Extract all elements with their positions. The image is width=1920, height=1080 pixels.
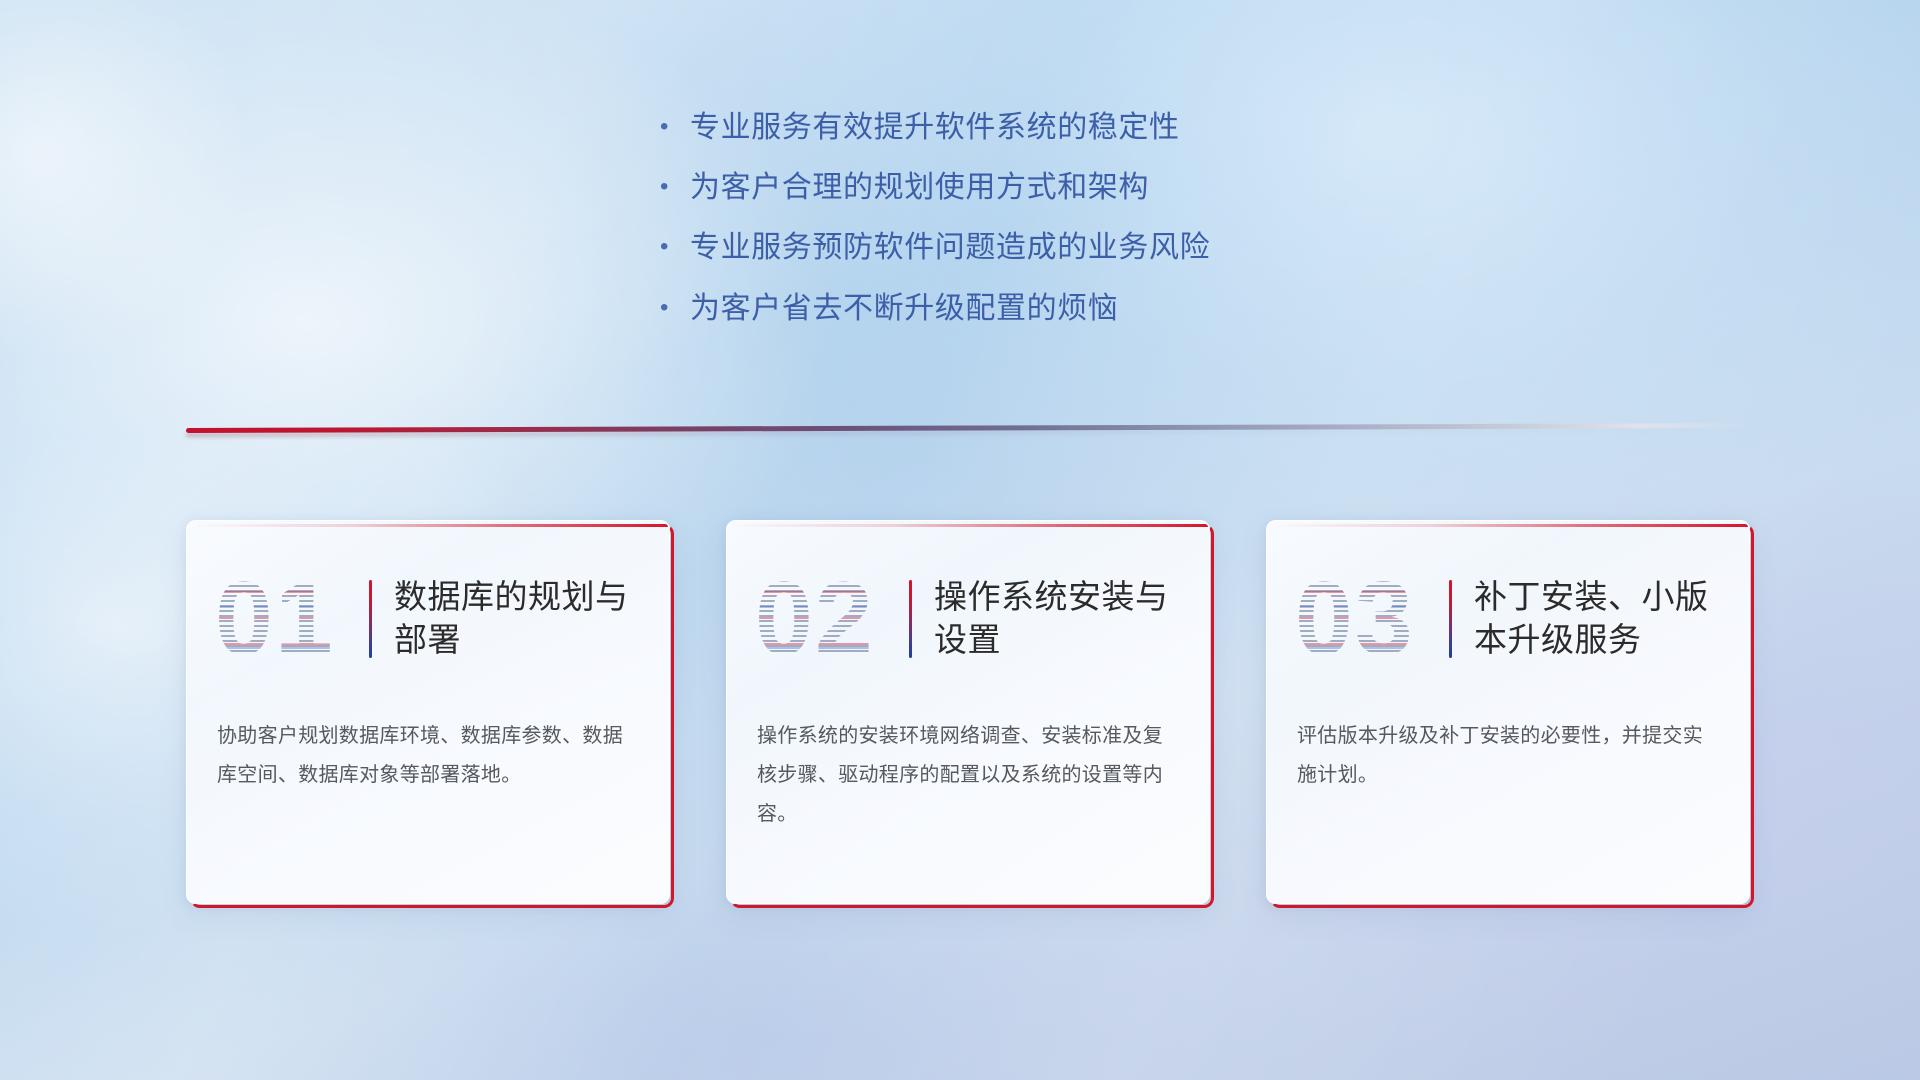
bullet-point-icon: • — [660, 296, 690, 320]
service-card[interactable]: 02 02 02 操作系统安装与设置 操作系统的安装环境网络调查、安装标准及复核… — [726, 520, 1210, 904]
card-number: 01 — [215, 565, 363, 673]
bullet-item-label: 专业服务有效提升软件系统的稳定性 — [690, 108, 1180, 148]
card-number-group: 01 01 01 — [215, 565, 363, 673]
card-title-divider-bar — [1449, 580, 1452, 658]
card-surface: 03 03 03 补丁安装、小版本升级服务 评估版本升级及补丁安装的必要性，并提… — [1266, 520, 1750, 904]
card-description: 协助客户规划数据库环境、数据库参数、数据库空间、数据库对象等部署落地。 — [217, 717, 633, 795]
card-title: 操作系统安装与设置 — [934, 576, 1209, 662]
service-card-row: 01 01 01 数据库的规划与部署 协助客户规划数据库环境、数据库参数、数据库… — [186, 520, 1752, 904]
card-title: 数据库的规划与部署 — [394, 576, 669, 662]
bullet-point-icon: • — [660, 175, 690, 199]
card-header: 03 03 03 补丁安装、小版本升级服务 — [1267, 555, 1749, 683]
bullet-item: • 为客户合理的规划使用方式和架构 — [660, 168, 1420, 208]
card-surface: 01 01 01 数据库的规划与部署 协助客户规划数据库环境、数据库参数、数据库… — [186, 520, 670, 904]
card-header: 02 02 02 操作系统安装与设置 — [727, 555, 1209, 683]
bullet-point-icon: • — [660, 115, 690, 139]
card-description: 评估版本升级及补丁安装的必要性，并提交实施计划。 — [1297, 717, 1713, 795]
bullet-item: • 专业服务预防软件问题造成的业务风险 — [660, 228, 1420, 268]
card-description: 操作系统的安装环境网络调查、安装标准及复核步骤、驱动程序的配置以及系统的设置等内… — [757, 717, 1173, 834]
card-header: 01 01 01 数据库的规划与部署 — [187, 555, 669, 683]
card-number-group: 03 03 03 — [1295, 565, 1443, 673]
card-title-divider-bar — [909, 580, 912, 658]
card-surface: 02 02 02 操作系统安装与设置 操作系统的安装环境网络调查、安装标准及复核… — [726, 520, 1210, 904]
bullet-point-icon: • — [660, 235, 690, 259]
service-card[interactable]: 01 01 01 数据库的规划与部署 协助客户规划数据库环境、数据库参数、数据库… — [186, 520, 670, 904]
benefits-bullet-list: • 专业服务有效提升软件系统的稳定性 • 为客户合理的规划使用方式和架构 • 专… — [660, 108, 1420, 349]
bullet-item-label: 为客户省去不断升级配置的烦恼 — [690, 289, 1118, 329]
card-number: 02 — [755, 565, 903, 673]
bullet-item-label: 专业服务预防软件问题造成的业务风险 — [690, 228, 1210, 268]
bullet-item: • 专业服务有效提升软件系统的稳定性 — [660, 108, 1420, 148]
section-divider — [186, 428, 1746, 438]
service-card[interactable]: 03 03 03 补丁安装、小版本升级服务 评估版本升级及补丁安装的必要性，并提… — [1266, 520, 1750, 904]
bullet-item-label: 为客户合理的规划使用方式和架构 — [690, 168, 1149, 208]
card-title: 补丁安装、小版本升级服务 — [1474, 576, 1749, 662]
bullet-item: • 为客户省去不断升级配置的烦恼 — [660, 289, 1420, 329]
card-title-divider-bar — [369, 580, 372, 658]
card-number: 03 — [1295, 565, 1443, 673]
card-number-group: 02 02 02 — [755, 565, 903, 673]
